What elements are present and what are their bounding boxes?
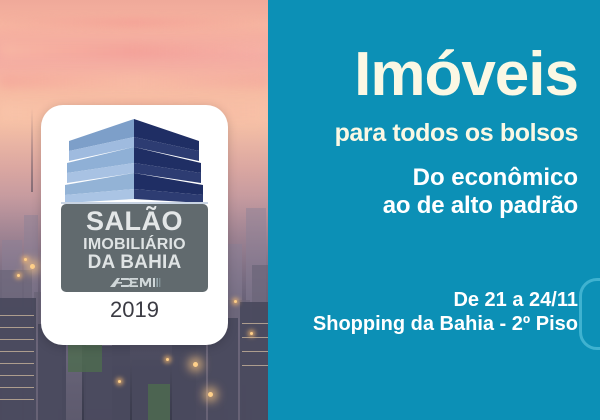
tagline-line-1: Do econômico	[383, 164, 578, 192]
event-logo-card: SALÃO IMOBILIÁRIO DA BAHIA	[41, 105, 228, 345]
city-light	[118, 380, 121, 383]
ademi-icon	[108, 277, 162, 288]
green-roof	[148, 384, 170, 420]
city-light	[166, 358, 169, 361]
window-row	[0, 363, 34, 364]
building-near	[172, 338, 206, 420]
logo-plate: SALÃO IMOBILIÁRIO DA BAHIA	[61, 204, 208, 292]
window-row	[0, 339, 34, 340]
event-dates: De 21 a 24/11	[313, 288, 578, 312]
teal-panel: Imóveis para todos os bolsos Do econômic…	[268, 0, 600, 420]
window-row	[0, 327, 34, 328]
window-row	[0, 375, 34, 376]
window-row	[0, 399, 34, 400]
tagline-line-2: ao de alto padrão	[383, 192, 578, 220]
city-light	[208, 392, 213, 397]
headline-imoveis: Imóveis	[354, 44, 578, 106]
city-light	[24, 258, 27, 261]
window-row	[0, 315, 34, 316]
window-row	[0, 387, 34, 388]
sky-streak	[0, 76, 268, 88]
city-light	[250, 332, 253, 335]
event-info-box	[579, 278, 600, 350]
poster-root: SALÃO IMOBILIÁRIO DA BAHIA	[0, 0, 600, 420]
city-light	[234, 300, 237, 303]
sky-streak	[0, 18, 268, 28]
city-light	[193, 362, 198, 367]
city-light	[30, 264, 35, 269]
window-row	[242, 323, 268, 324]
city-skyline-photo: SALÃO IMOBILIÁRIO DA BAHIA	[0, 0, 268, 420]
window-row	[242, 365, 268, 366]
ademi-sponsor-logo	[108, 277, 162, 288]
city-light	[17, 274, 20, 277]
stacked-building-icon	[41, 117, 228, 205]
window-row	[242, 351, 268, 352]
subline-para-todos: para todos os bolsos	[335, 120, 578, 146]
logo-line-imobiliario: IMOBILIÁRIO	[83, 236, 186, 253]
window-row	[0, 351, 34, 352]
event-venue: Shopping da Bahia - 2º Piso	[313, 312, 578, 336]
event-info-text: De 21 a 24/11 Shopping da Bahia - 2º Pis…	[313, 288, 578, 336]
building-near	[0, 298, 36, 420]
event-year: 2019	[41, 298, 228, 322]
antenna-mast	[31, 108, 33, 192]
window-row	[242, 337, 268, 338]
tagline: Do econômico ao de alto padrão	[383, 164, 578, 220]
logo-line-salao: SALÃO	[86, 208, 183, 235]
sky-streak	[0, 44, 268, 58]
logo-line-da-bahia: DA BAHIA	[88, 253, 182, 273]
building-near	[240, 302, 268, 420]
